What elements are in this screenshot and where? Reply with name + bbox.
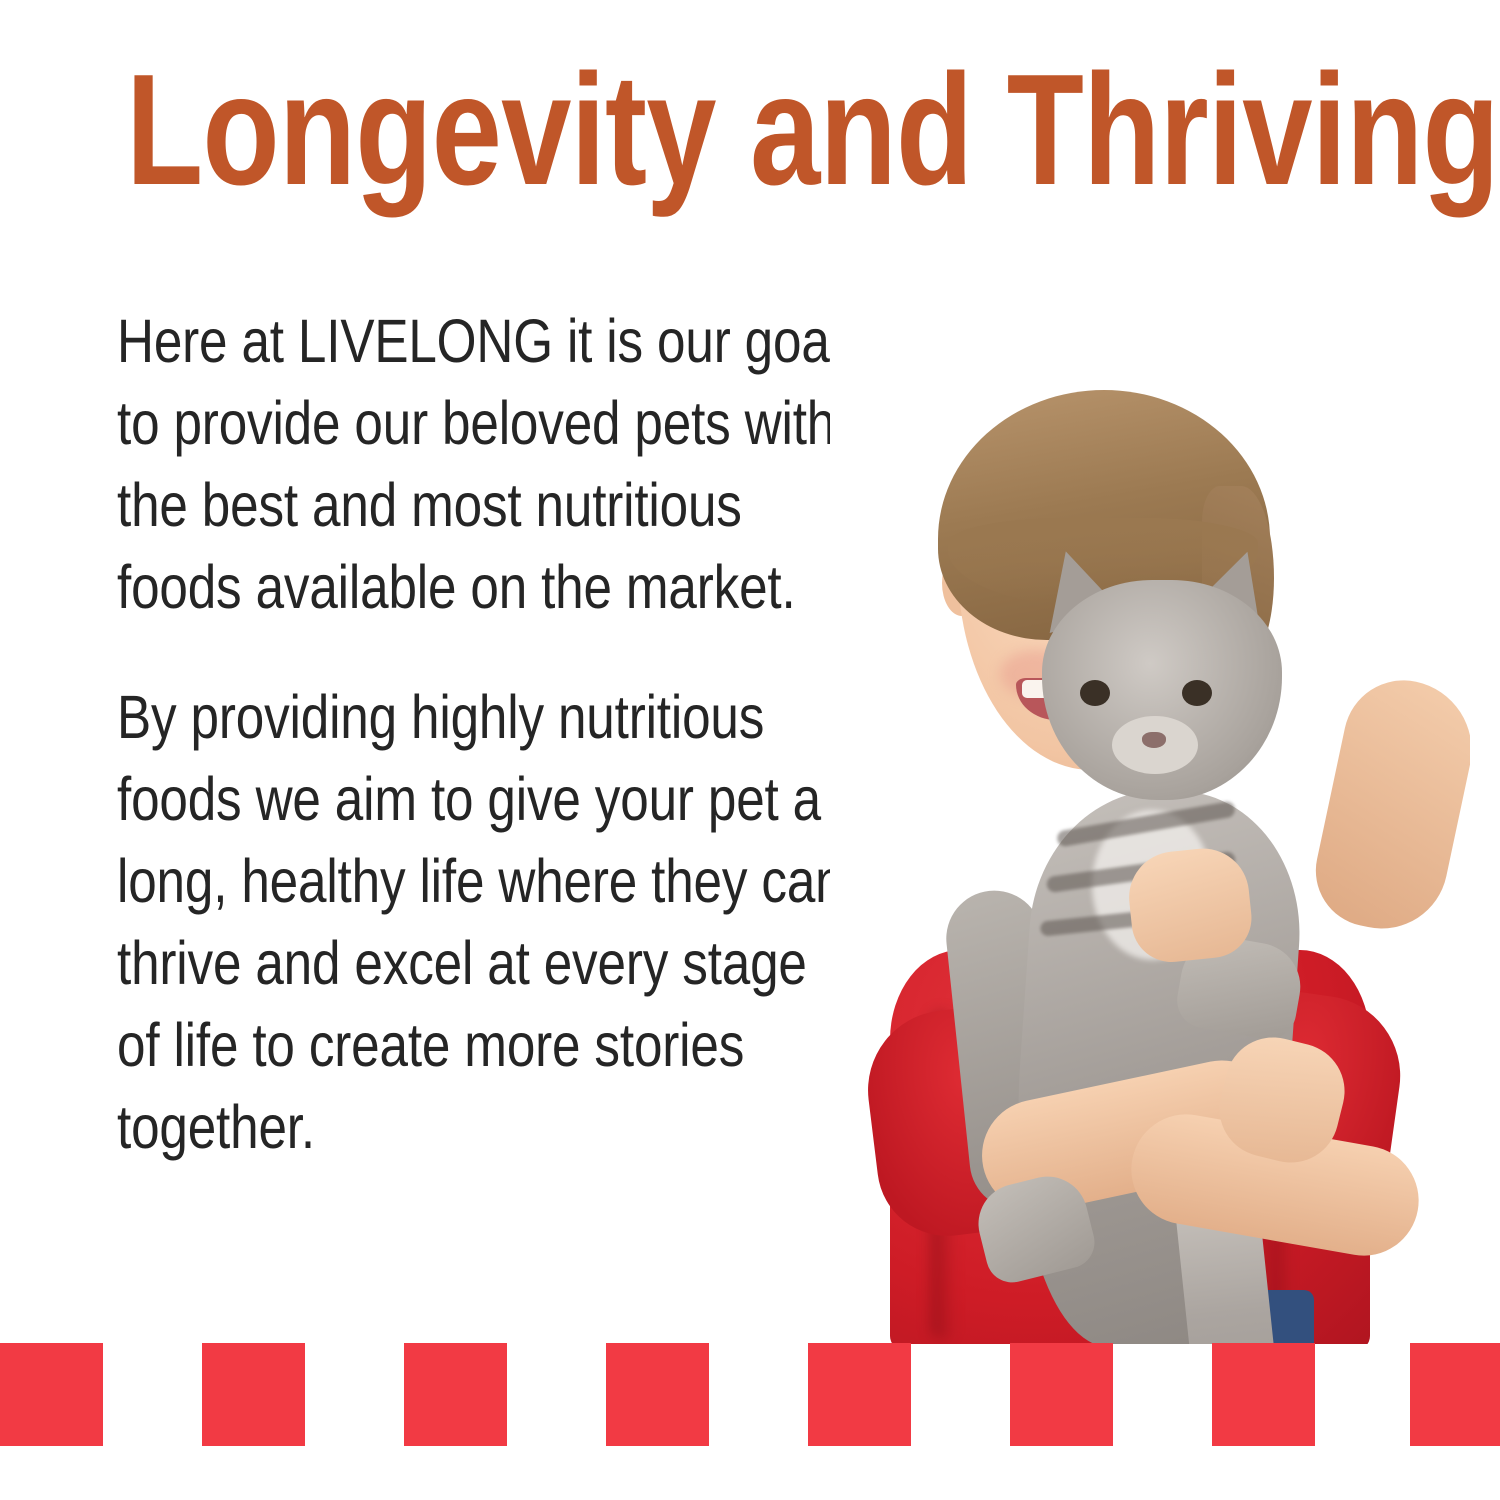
kitten-nose [1142,732,1166,748]
poster-canvas: Longevity and Thriving Life Here at LIVE… [0,0,1500,1500]
decorative-square-1 [0,1343,103,1446]
elbow-right [1305,669,1470,941]
decorative-square-6 [1010,1343,1113,1446]
decorative-square-4 [606,1343,709,1446]
kitten-eye [1080,680,1110,706]
paragraph-1: Here at LIVELONG it is our goal to provi… [117,300,857,628]
decorative-square-8 [1410,1343,1500,1446]
page-title: Longevity and Thriving Life [126,46,1166,226]
decorative-square-band [0,1343,1500,1446]
hand-left [1125,844,1256,966]
body-copy: Here at LIVELONG it is our goal to provi… [117,300,857,1168]
decorative-square-2 [202,1343,305,1446]
hero-photo [830,250,1470,1344]
decorative-square-5 [808,1343,911,1446]
paragraph-2: By providing highly nutritious foods we … [117,676,857,1168]
decorative-square-7 [1212,1343,1315,1446]
decorative-square-3 [404,1343,507,1446]
boy-with-kitten-image [830,250,1470,1344]
kitten-eye [1182,680,1212,706]
